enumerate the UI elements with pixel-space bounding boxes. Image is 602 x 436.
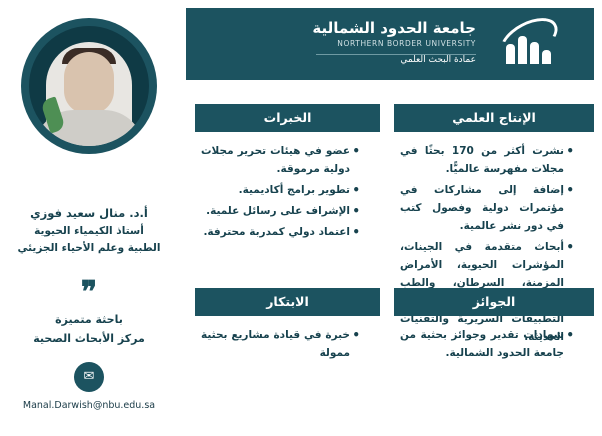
card-body-experience: عضو في هيئات تحرير مجلات دولية مرموقة. ت… — [195, 132, 380, 248]
logo-bar-2 — [518, 36, 527, 64]
list-item: الإشراف على رسائل علمية. — [201, 202, 360, 220]
poster-canvas: أ.د. منال سعيد فوزي أستاذ الكيمياء الحيو… — [0, 0, 602, 436]
department-name: عمادة البحث العلمي — [312, 55, 476, 65]
profile-panel: أ.د. منال سعيد فوزي أستاذ الكيمياء الحيو… — [0, 0, 178, 436]
profile-email[interactable]: Manal.Darwish@nbu.edu.sa — [0, 400, 178, 411]
card-title-production: الإنتاج العلمي — [394, 104, 594, 132]
card-experience: الخبرات عضو في هيئات تحرير مجلات دولية م… — [195, 104, 380, 248]
card-title-innovation: الابتكار — [195, 288, 380, 316]
university-name-arabic: جامعة الحدود الشمالية — [312, 19, 476, 37]
list-item: إضافة إلى مشاركات في مؤتمرات دولية وفصول… — [400, 181, 574, 235]
bullet-list-innovation: خبرة في قيادة مشاريع بحثية ممولة — [201, 326, 374, 362]
logo-bar-1 — [506, 44, 515, 64]
profile-role-line-1: باحثة متميزة — [0, 311, 178, 330]
university-name-english: NORTHERN BORDER UNIVERSITY — [312, 39, 476, 48]
list-item: شهادات تقدير وجوائز بحثية من جامعة الحدو… — [400, 326, 574, 362]
avatar-image — [29, 26, 149, 146]
bullet-list-experience: عضو في هيئات تحرير مجلات دولية مرموقة. ت… — [201, 142, 374, 241]
card-title-experience: الخبرات — [195, 104, 380, 132]
portrait-face-shape — [64, 52, 114, 114]
card-awards: الجوائز شهادات تقدير وجوائز بحثية من جام… — [394, 288, 594, 369]
profile-title-line-1: أستاذ الكيمياء الحيوية — [0, 223, 178, 240]
header-banner: جامعة الحدود الشمالية NORTHERN BORDER UN… — [186, 8, 594, 80]
logo-swoosh-shape — [494, 9, 565, 68]
logo-bar-4 — [542, 50, 551, 64]
list-item: تطوير برامج أكاديمية. — [201, 181, 360, 199]
list-item: خبرة في قيادة مشاريع بحثية ممولة — [201, 326, 360, 362]
header-divider — [316, 54, 476, 55]
card-body-awards: شهادات تقدير وجوائز بحثية من جامعة الحدو… — [394, 316, 594, 369]
envelope-icon: ✉ — [74, 362, 104, 392]
avatar — [21, 18, 157, 154]
university-identity: جامعة الحدود الشمالية NORTHERN BORDER UN… — [312, 19, 476, 65]
profile-name-block: أ.د. منال سعيد فوزي أستاذ الكيمياء الحيو… — [0, 205, 178, 256]
card-innovation: الابتكار خبرة في قيادة مشاريع بحثية ممول… — [195, 288, 380, 369]
university-logo-icon — [496, 20, 558, 70]
profile-name: أ.د. منال سعيد فوزي — [0, 205, 178, 223]
logo-bar-3 — [530, 42, 539, 64]
card-body-innovation: خبرة في قيادة مشاريع بحثية ممولة — [195, 316, 380, 369]
bullet-list-awards: شهادات تقدير وجوائز بحثية من جامعة الحدو… — [400, 326, 588, 362]
quote-mark-icon: ❞ — [0, 278, 178, 308]
profile-role-line-2: مركز الأبحاث الصحية — [0, 330, 178, 349]
list-item: عضو في هيئات تحرير مجلات دولية مرموقة. — [201, 142, 360, 178]
list-item: نشرت أكثر من 170 بحثًا في مجلات مفهرسة ع… — [400, 142, 574, 178]
profile-role-block: باحثة متميزة مركز الأبحاث الصحية — [0, 311, 178, 348]
card-title-awards: الجوائز — [394, 288, 594, 316]
profile-title-line-2: الطبية وعلم الأحياء الجزيئي — [0, 240, 178, 257]
list-item: اعتماد دولي كمدربة محترفة. — [201, 223, 360, 241]
